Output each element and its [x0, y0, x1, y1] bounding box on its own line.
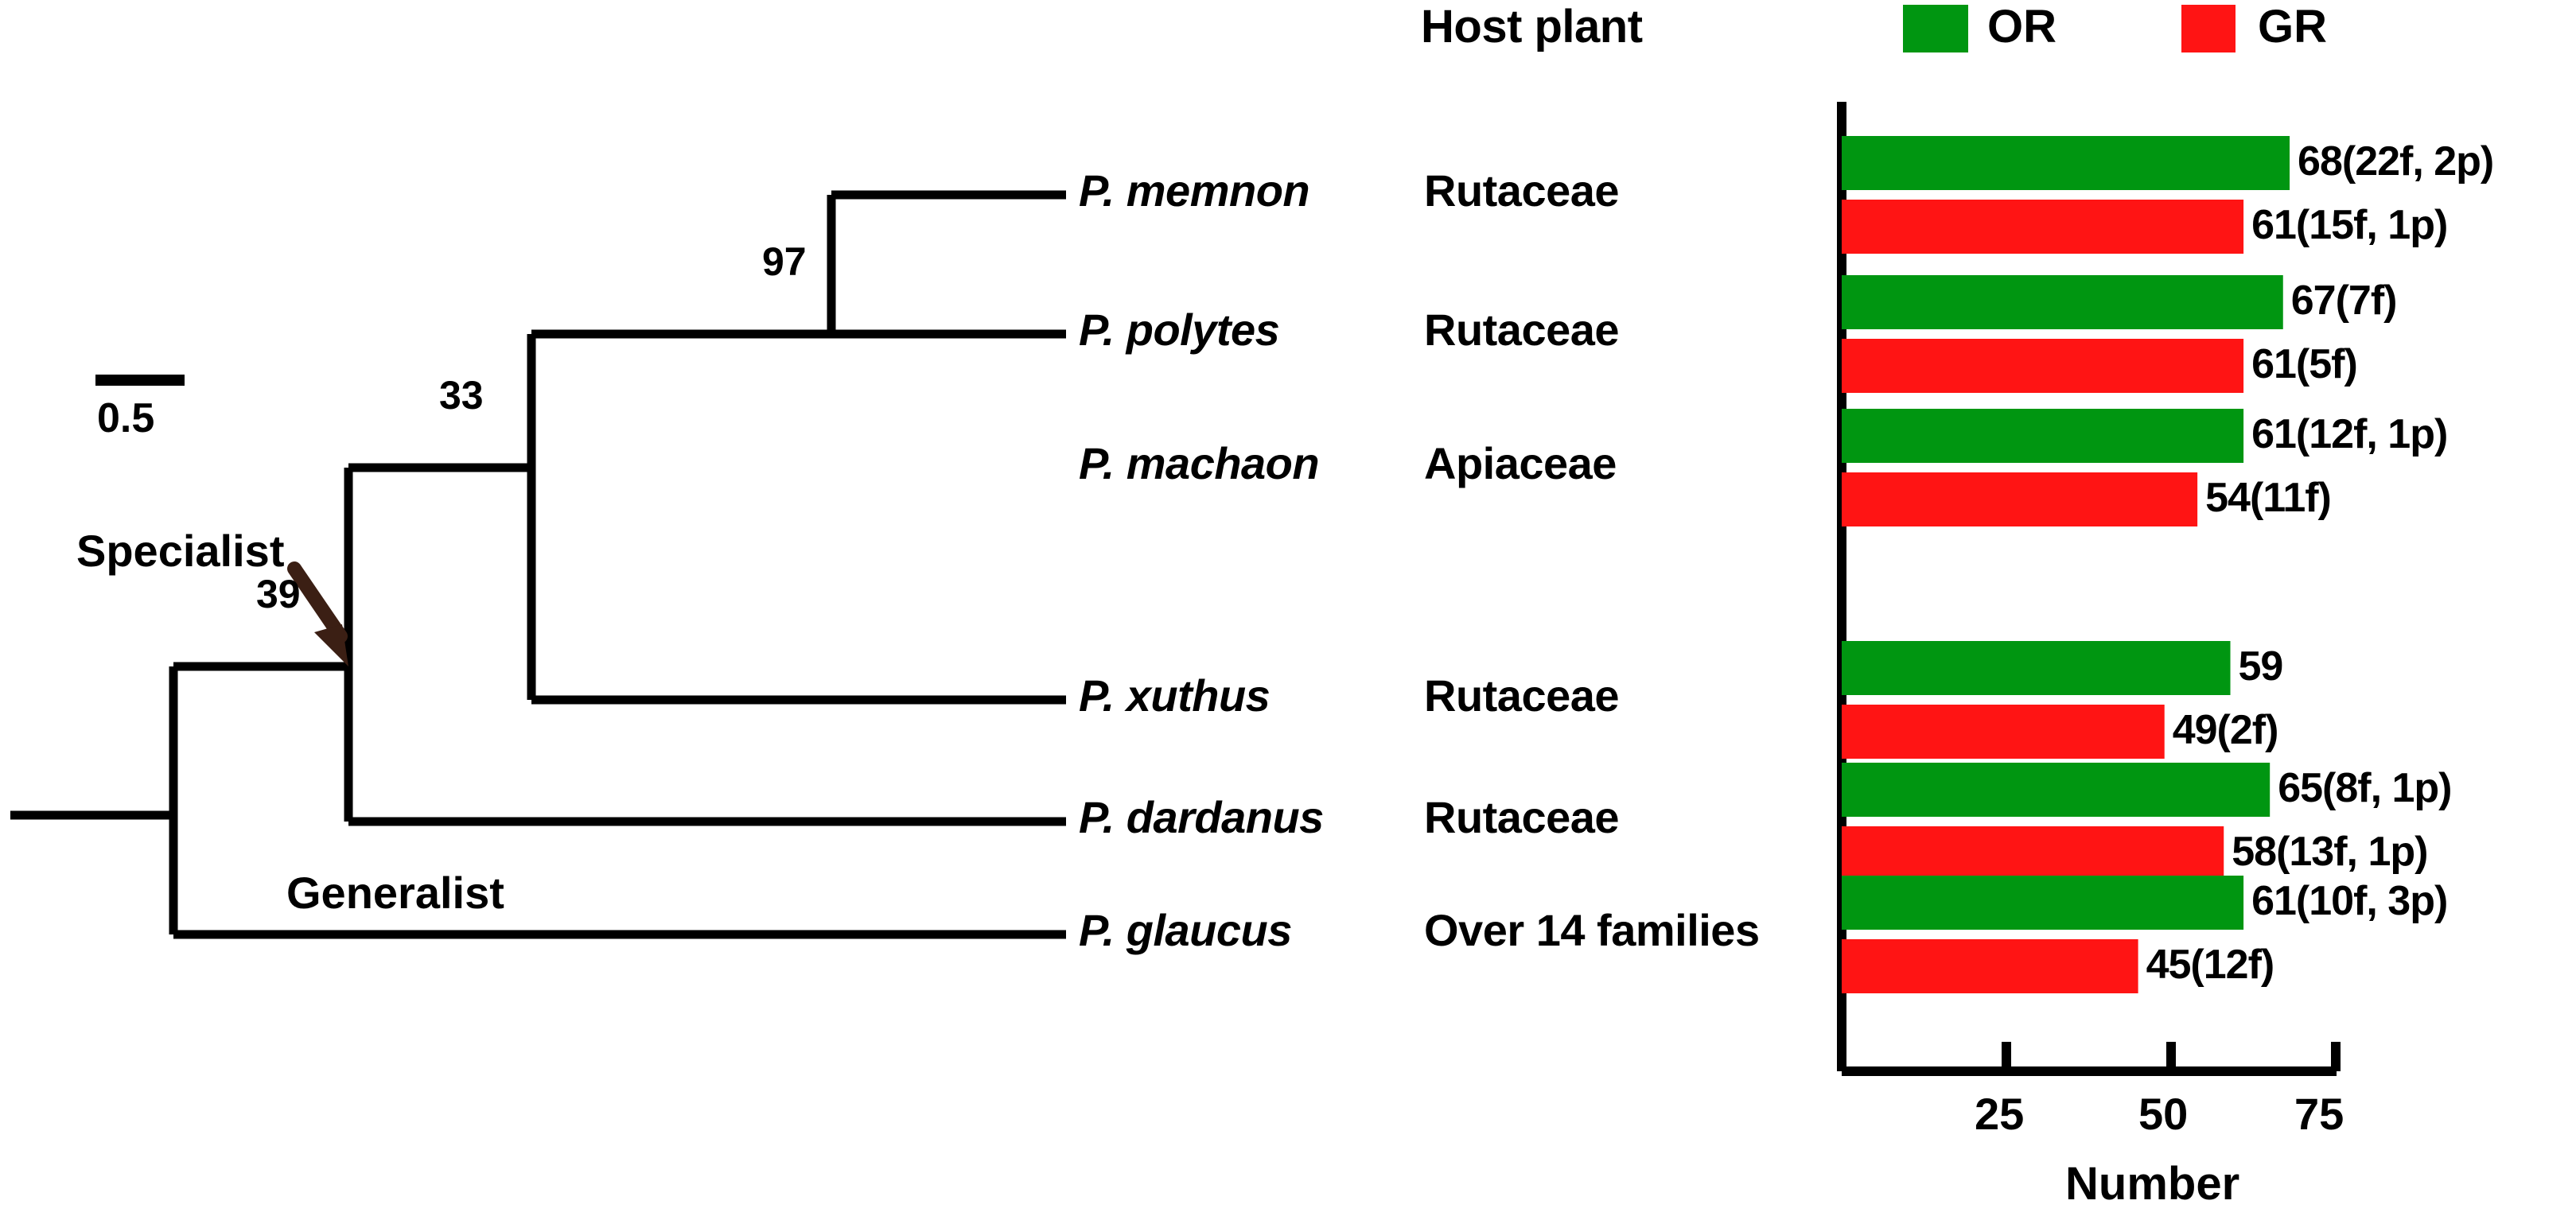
- axis-tick-label-25: 25: [1975, 1088, 2024, 1140]
- bootstrap-value-39: 39: [256, 571, 301, 617]
- bar-value-label-or-5: 65(8f, 1p): [2278, 764, 2451, 812]
- species-label-1: P. memnon: [1079, 165, 1309, 216]
- specialist-arrow-icon: [294, 569, 348, 666]
- bar-value-label-or-4: 59: [2239, 643, 2283, 690]
- bootstrap-value-97: 97: [762, 239, 807, 285]
- host-plant-label-4: Rutaceae: [1424, 670, 1619, 721]
- legend-label-or: OR: [1987, 0, 2057, 53]
- species-label-2: P. polytes: [1079, 304, 1279, 355]
- species-label-3: P. machaon: [1079, 437, 1319, 489]
- bar-value-label-or-3: 61(12f, 1p): [2251, 410, 2447, 458]
- group-label-generalist: Generalist: [286, 867, 504, 919]
- bar-value-label-gr-1: 61(15f, 1p): [2251, 201, 2447, 249]
- bars-group: [1842, 136, 2290, 993]
- bar-gr-2: [1842, 339, 2243, 393]
- bar-value-label-or-2: 67(7f): [2291, 277, 2397, 324]
- bar-or-3: [1842, 409, 2243, 463]
- scale-bar-label: 0.5: [97, 394, 154, 442]
- axis-tick-label-50: 50: [2138, 1088, 2188, 1140]
- bar-gr-3: [1842, 472, 2197, 526]
- legend-label-gr: GR: [2258, 0, 2327, 53]
- bar-or-1: [1842, 136, 2290, 190]
- bar-value-label-gr-3: 54(11f): [2205, 474, 2331, 522]
- bar-or-6: [1842, 876, 2243, 930]
- bar-value-label-gr-4: 49(2f): [2173, 706, 2278, 754]
- bar-value-label-or-1: 68(22f, 2p): [2298, 138, 2493, 185]
- bar-value-label-gr-6: 45(12f): [2146, 941, 2274, 989]
- bar-value-label-gr-2: 61(5f): [2251, 340, 2357, 388]
- host-plant-label-6: Over 14 families: [1424, 904, 1760, 956]
- bar-gr-5: [1842, 826, 2224, 880]
- species-label-4: P. xuthus: [1079, 670, 1270, 721]
- species-label-5: P. dardanus: [1079, 791, 1324, 843]
- bar-gr-4: [1842, 705, 2165, 759]
- group-label-specialist: Specialist: [76, 525, 284, 577]
- bar-value-label-or-6: 61(10f, 3p): [2251, 877, 2447, 925]
- axis-title-number: Number: [2065, 1157, 2239, 1210]
- host-plant-label-3: Apiaceae: [1424, 437, 1617, 489]
- bar-or-4: [1842, 641, 2231, 695]
- bar-or-5: [1842, 763, 2270, 817]
- host-plant-label-1: Rutaceae: [1424, 165, 1619, 216]
- bar-gr-6: [1842, 939, 2138, 993]
- axis-tick-label-75: 75: [2294, 1088, 2344, 1140]
- host-plant-header: Host plant: [1421, 0, 1643, 53]
- bar-gr-1: [1842, 200, 2243, 254]
- bar-value-label-gr-5: 58(13f, 1p): [2232, 828, 2427, 876]
- species-label-6: P. glaucus: [1079, 904, 1292, 956]
- bootstrap-value-33: 33: [439, 372, 484, 418]
- host-plant-label-2: Rutaceae: [1424, 304, 1619, 355]
- host-plant-label-5: Rutaceae: [1424, 791, 1619, 843]
- legend-swatch-gr: [2181, 5, 2236, 52]
- bar-or-2: [1842, 275, 2283, 329]
- legend-swatch-or: [1903, 5, 1968, 52]
